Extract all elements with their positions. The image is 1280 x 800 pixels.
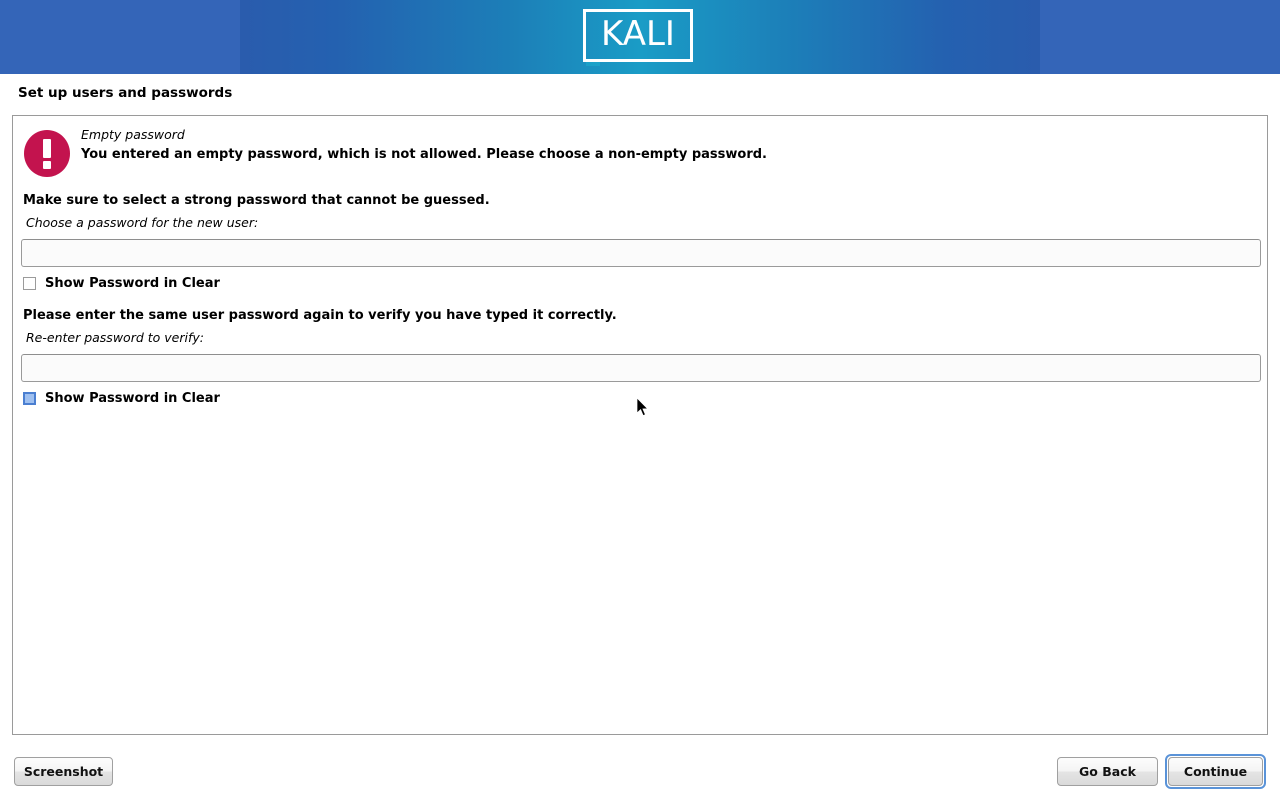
go-back-button[interactable]: Go Back	[1057, 757, 1158, 786]
kali-logo-notch	[586, 62, 600, 66]
password-input[interactable]	[21, 239, 1261, 267]
continue-button-focus-ring: Continue	[1165, 754, 1266, 789]
exclamation-bar	[43, 139, 51, 158]
kali-logo-text: KALI	[583, 9, 693, 62]
password-field-label: Choose a password for the new user:	[26, 215, 258, 230]
verify-field-label: Re-enter password to verify:	[26, 330, 204, 345]
screenshot-button[interactable]: Screenshot	[14, 757, 113, 786]
installer-banner: KALI	[0, 0, 1280, 74]
show-password-label-2: Show Password in Clear	[45, 391, 220, 406]
verify-password-note: Please enter the same user password agai…	[23, 308, 617, 323]
main-content-panel: Empty password You entered an empty pass…	[12, 115, 1268, 735]
show-password-checkbox-1[interactable]	[23, 277, 36, 290]
show-password-label-1: Show Password in Clear	[45, 276, 220, 291]
continue-button[interactable]: Continue	[1168, 757, 1263, 786]
kali-installer-window: KALI Set up users and passwords Empty pa…	[0, 0, 1280, 800]
page-title: Set up users and passwords	[18, 85, 232, 101]
error-exclamation-icon	[24, 130, 70, 177]
exclamation-dot	[43, 161, 51, 169]
kali-logo: KALI	[583, 9, 697, 66]
show-password-checkbox-2[interactable]	[23, 392, 36, 405]
error-title: Empty password	[81, 127, 185, 142]
strong-password-note: Make sure to select a strong password th…	[23, 193, 490, 208]
verify-password-input[interactable]	[21, 354, 1261, 382]
error-message: You entered an empty password, which is …	[81, 147, 767, 162]
